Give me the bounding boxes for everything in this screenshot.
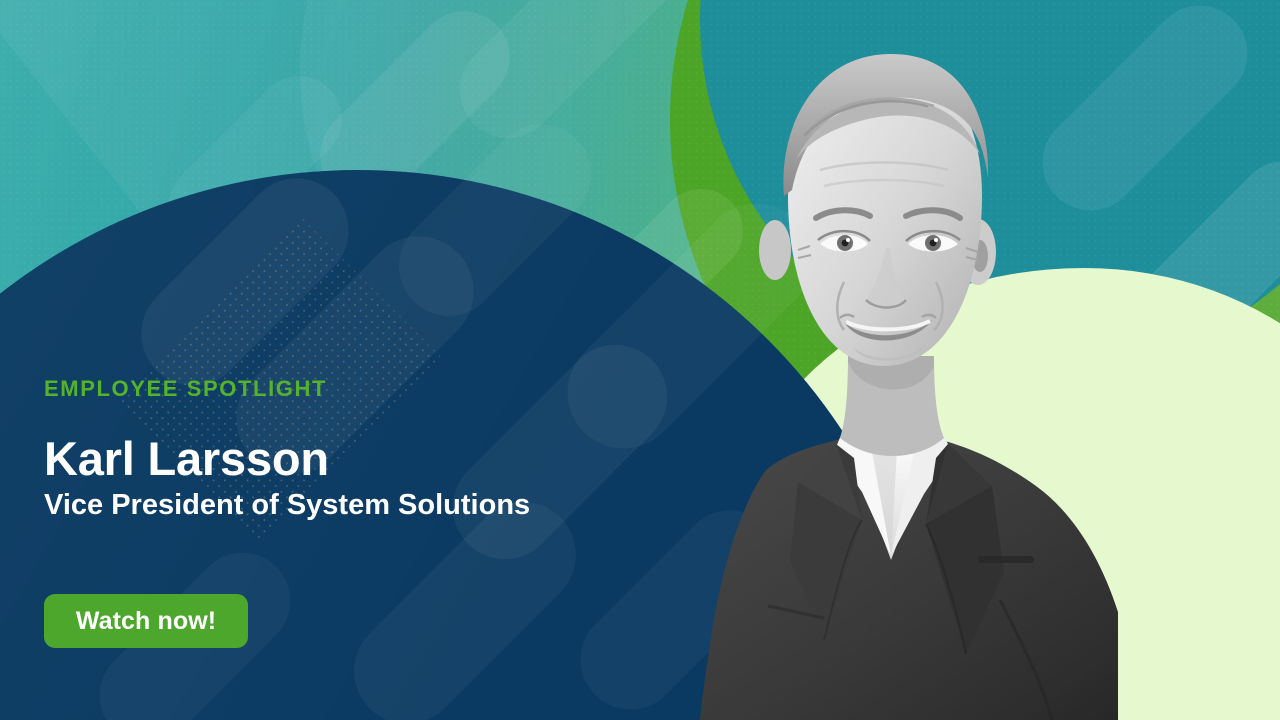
employee-name: Karl Larsson: [44, 434, 644, 483]
watch-now-button[interactable]: Watch now!: [44, 594, 248, 648]
portrait-photo: [648, 0, 1118, 720]
employee-role: Vice President of System Solutions: [44, 489, 644, 521]
employee-spotlight-card: EMPLOYEE SPOTLIGHT Karl Larsson Vice Pre…: [0, 0, 1280, 720]
text-block: EMPLOYEE SPOTLIGHT Karl Larsson Vice Pre…: [44, 378, 644, 522]
eyebrow-label: EMPLOYEE SPOTLIGHT: [44, 378, 644, 400]
